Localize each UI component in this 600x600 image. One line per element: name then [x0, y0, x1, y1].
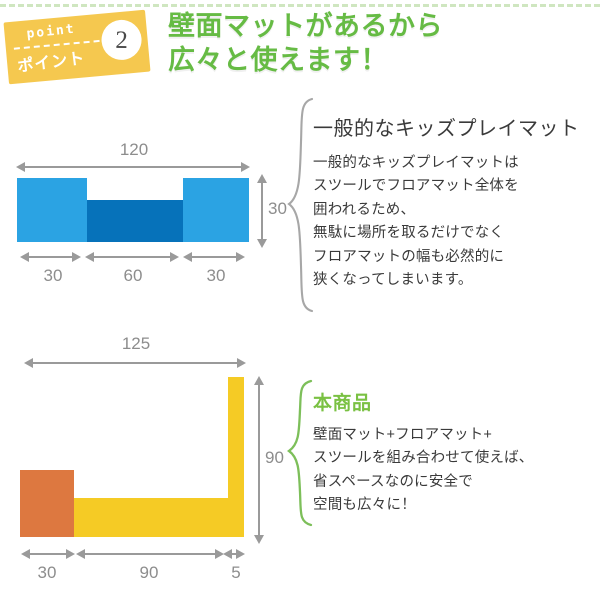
dim-arrow-left-wallwidth: [223, 549, 232, 559]
body-line: 一般的なキッズプレイマットは: [313, 152, 593, 175]
dim-label-total-width-125: 125: [114, 334, 158, 354]
body-line: フロアマットの幅も必然的に: [313, 246, 593, 269]
dim-arrow-up-wallheight: [254, 376, 264, 385]
dim-line-floor-width: [84, 553, 216, 555]
section-body-common-mat: 一般的なキッズプレイマットは スツールでフロアマット全体を 囲われるため、 無駄…: [313, 152, 593, 293]
dim-arrow-down-wallheight: [254, 535, 264, 544]
section-title-common-mat: 一般的なキッズプレイマット: [313, 112, 580, 141]
dim-line-stool-width: [29, 553, 67, 555]
dim-line-total-width-2: [32, 362, 238, 364]
brace-green: [286, 378, 316, 528]
dim-arrow-right-stoolwidth: [66, 549, 75, 559]
dim-label-floor-width-90: 90: [120, 563, 178, 583]
body-line: 空間も広々に！: [313, 494, 593, 517]
body-line: 狭くなってしまいます。: [313, 269, 593, 292]
infographic-page: point ポイント 2 壁面マットがあるから 広々と使えます！ 120 30: [0, 0, 600, 600]
body-line: 無駄に場所を取るだけでなく: [313, 222, 593, 245]
body-line: スツールを組み合わせて使えば、: [313, 447, 593, 470]
body-line: スツールでフロアマット全体を: [313, 175, 593, 198]
product-floor-mat-block: [74, 498, 228, 537]
dim-arrow-left-floorwidth: [76, 549, 85, 559]
body-line: 省スペースなのに安全で: [313, 471, 593, 494]
section-body-this-product: 壁面マット+フロアマット+ スツールを組み合わせて使えば、 省スペースなのに安全…: [313, 424, 593, 518]
product-wall-mat-block: [228, 377, 244, 537]
dim-label-wall-width-5: 5: [219, 563, 253, 583]
diagram-this-product: 125 90 30 90 5: [0, 0, 300, 600]
dim-arrow-left-stoolwidth: [21, 549, 30, 559]
product-stool-block: [20, 470, 74, 537]
section-title-this-product: 本商品: [313, 388, 372, 415]
dim-arrow-right-total-2: [237, 358, 246, 368]
body-line: 壁面マット+フロアマット+: [313, 424, 593, 447]
body-line: 囲われるため、: [313, 199, 593, 222]
dim-line-wall-height: [258, 384, 260, 536]
dim-label-stool-width-30: 30: [18, 563, 76, 583]
dim-arrow-right-wallwidth: [236, 549, 245, 559]
dim-arrow-left-total-2: [24, 358, 33, 368]
